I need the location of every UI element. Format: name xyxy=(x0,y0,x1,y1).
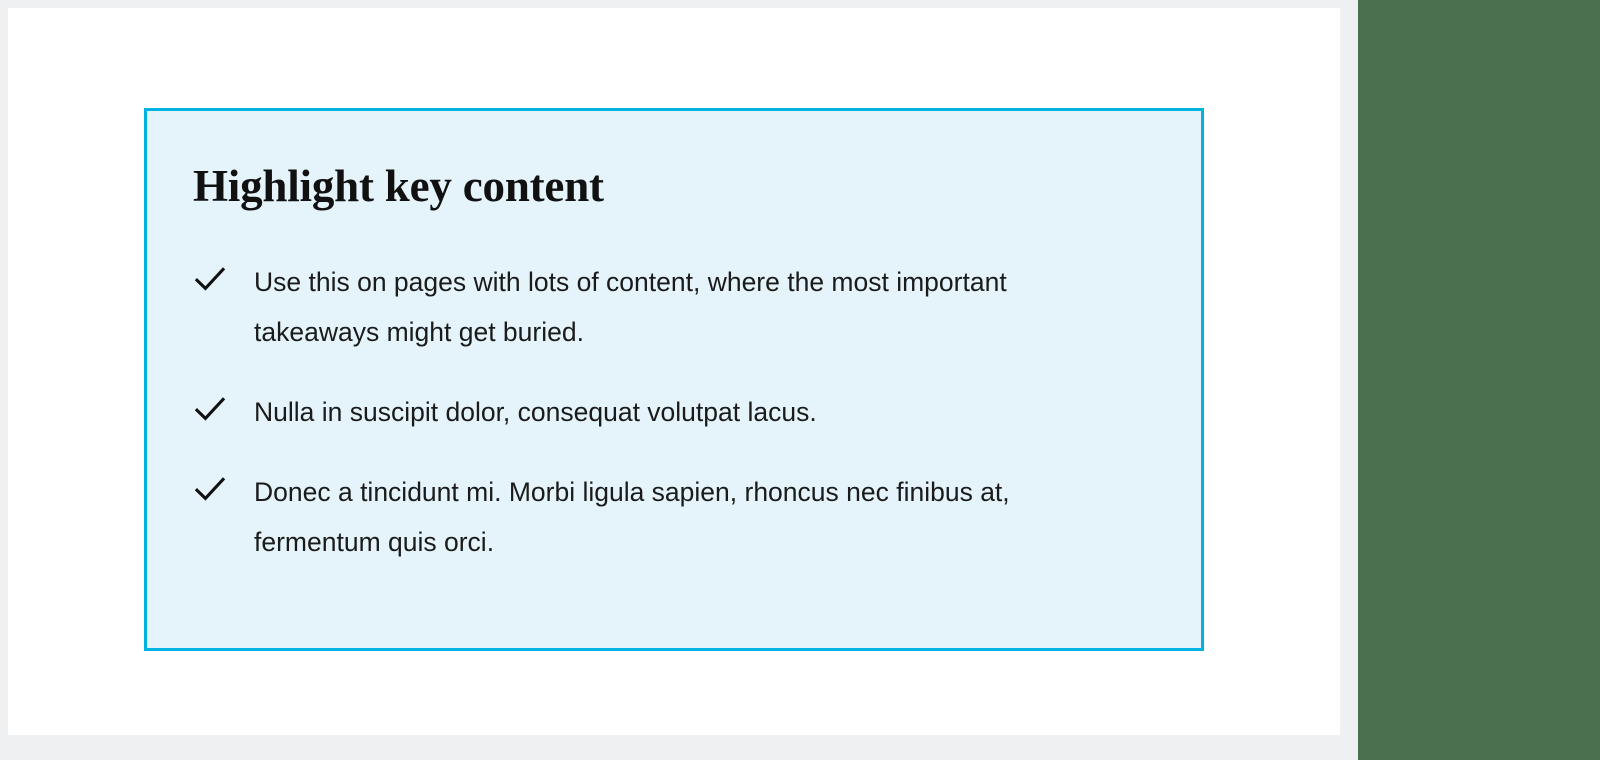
page-card: Highlight key content Use this on pages … xyxy=(8,8,1340,735)
check-icon xyxy=(193,262,227,296)
callout-content: Highlight key content Use this on pages … xyxy=(147,111,1201,567)
list-item: Use this on pages with lots of content, … xyxy=(193,257,1155,357)
check-icon xyxy=(193,392,227,426)
stage: Highlight key content Use this on pages … xyxy=(0,0,1600,760)
callout-heading: Highlight key content xyxy=(193,163,1155,211)
list-item-text: Use this on pages with lots of content, … xyxy=(254,257,1044,357)
highlight-callout-box: Highlight key content Use this on pages … xyxy=(144,108,1204,651)
list-item: Nulla in suscipit dolor, consequat volut… xyxy=(193,387,1155,437)
list-item-text: Donec a tincidunt mi. Morbi ligula sapie… xyxy=(254,467,1044,567)
list-item: Donec a tincidunt mi. Morbi ligula sapie… xyxy=(193,467,1155,567)
check-icon xyxy=(193,472,227,506)
callout-list: Use this on pages with lots of content, … xyxy=(193,257,1155,567)
list-item-text: Nulla in suscipit dolor, consequat volut… xyxy=(254,387,817,437)
